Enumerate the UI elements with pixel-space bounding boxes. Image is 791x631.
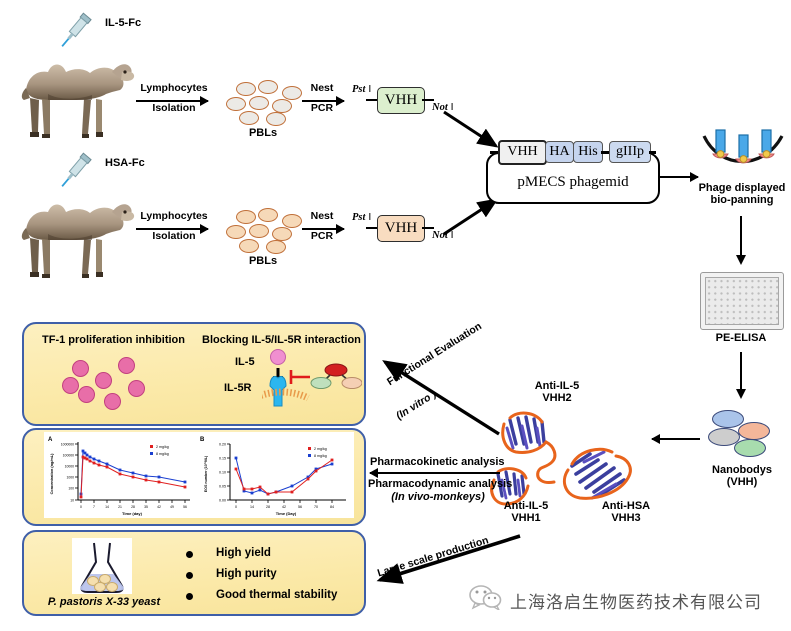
svg-text:28: 28 <box>266 505 270 509</box>
footer-company-name: 上海洛启生物医药技术有限公司 <box>510 588 762 613</box>
phagemid-label: pMECS phagemid <box>488 174 658 191</box>
gene-giiip: gIIIp <box>609 141 651 163</box>
bullet-label-1: High yield <box>216 547 271 559</box>
pbl-label-1: PBLs <box>228 127 298 141</box>
svg-text:Concentration (ng/mL): Concentration (ng/mL) <box>50 453 54 494</box>
bullet-dot-1 <box>186 551 193 558</box>
functional-evaluation-arrow <box>375 352 505 440</box>
nanobody-cluster <box>706 410 778 454</box>
svg-text:42: 42 <box>157 505 161 509</box>
yeast-label: P. pastoris X-33 yeast <box>42 596 166 610</box>
svg-text:1000: 1000 <box>66 475 74 479</box>
blocking-panel-title: Blocking IL-5/IL-5R interaction <box>202 334 361 346</box>
svg-text:100: 100 <box>68 486 74 490</box>
lymphocyte-isolation-label-1b: Isolation <box>132 102 216 114</box>
nest-pcr-label-1: Nest <box>298 82 346 94</box>
lymphocyte-isolation-label-2b: Isolation <box>132 230 216 242</box>
svg-text:10000: 10000 <box>65 464 75 468</box>
bullet-dot-2 <box>186 572 193 579</box>
panning-to-elisa-arrow <box>740 216 742 256</box>
svg-text:1000000: 1000000 <box>61 442 74 446</box>
chart-panel-a: A 1000000 100000 10000 1000 100 10 0 7 1… <box>44 432 196 518</box>
svg-text:0: 0 <box>235 505 237 509</box>
pbl-label-2: PBLs <box>228 255 298 269</box>
lymphocyte-isolation-label-1: Lymphocytes <box>132 82 216 94</box>
pk-pd-arrow <box>370 472 500 474</box>
il5-label: IL-5 <box>235 356 255 370</box>
elisa-label: PE-ELISA <box>700 332 782 346</box>
camel-illustration-1 <box>8 42 138 140</box>
bullet-label-3: Good thermal stability <box>216 589 337 601</box>
svg-text:35: 35 <box>144 505 148 509</box>
gene-ha: HA <box>545 141 574 163</box>
svg-text:0.15: 0.15 <box>219 456 226 460</box>
bullet-dot-3 <box>186 593 193 600</box>
svg-text:56: 56 <box>183 505 187 509</box>
nanobody-label-line2: (VHH) <box>694 476 790 490</box>
biopanning-label-line2: bio-panning <box>690 194 791 208</box>
svg-text:28: 28 <box>131 505 135 509</box>
tf1-panel-title: TF-1 proliferation inhibition <box>42 334 185 346</box>
elisa-to-nanobody-arrow <box>740 352 742 390</box>
svg-text:Time (day): Time (day) <box>122 511 143 516</box>
svg-text:21: 21 <box>118 505 122 509</box>
svg-text:42: 42 <box>282 505 286 509</box>
il5r-label: IL-5R <box>224 382 252 396</box>
svg-text:0: 0 <box>80 505 82 509</box>
antigen-label-2: HSA-Fc <box>105 157 145 171</box>
antigen-label-1: IL-5-Fc <box>105 17 141 31</box>
nest-pcr-label-1b: PCR <box>298 102 346 114</box>
svg-text:14: 14 <box>105 505 109 509</box>
gene-cassette: VHH HA His gIIIp <box>486 140 656 164</box>
svg-text:EOS number (10^9/L): EOS number (10^9/L) <box>204 455 208 492</box>
svg-text:49: 49 <box>170 505 174 509</box>
pk-analysis-label: Pharmacokinetic analysis <box>370 456 505 470</box>
pst-site-label-1: Pst I <box>352 83 371 95</box>
gene-his: His <box>573 141 603 163</box>
svg-text:7: 7 <box>93 505 95 509</box>
gene-vhh: VHH <box>498 140 547 165</box>
svg-text:0.10: 0.10 <box>219 470 226 474</box>
yeast-flask-icon <box>74 540 130 594</box>
svg-text:84: 84 <box>330 505 334 509</box>
svg-text:0.20: 0.20 <box>219 442 226 446</box>
lymphocyte-isolation-label-2: Lymphocytes <box>132 210 216 222</box>
svg-text:Time (Day): Time (Day) <box>276 511 297 516</box>
svg-text:B: B <box>200 437 205 443</box>
svg-text:0.05: 0.05 <box>219 484 226 488</box>
pst-site-label-2: Pst I <box>352 211 371 223</box>
svg-text:8 mg/kg: 8 mg/kg <box>314 454 327 458</box>
nest-pcr-label-2: Nest <box>298 210 346 222</box>
vhh3-label-line2: VHH3 <box>583 512 669 526</box>
pd-analysis-sublabel: (In vivo-monkeys) <box>368 491 508 505</box>
svg-text:8 mg/kg: 8 mg/kg <box>156 452 169 456</box>
nest-pcr-label-2b: PCR <box>298 230 346 242</box>
il5-il5r-blocking-diagram <box>262 348 362 416</box>
phagemid-to-panning-arrow <box>660 176 698 178</box>
svg-text:14: 14 <box>250 505 254 509</box>
camel-illustration-2 <box>8 182 138 280</box>
bullet-label-2: High purity <box>216 568 277 580</box>
elisa-plate-icon <box>700 272 784 330</box>
large-scale-production-arrow <box>368 528 528 590</box>
chart-panel-b: B 0.20 0.15 0.10 0.05 0.00 0 14 28 42 56… <box>196 432 354 518</box>
svg-text:70: 70 <box>314 505 318 509</box>
svg-text:10: 10 <box>70 498 74 502</box>
svg-text:A: A <box>48 437 53 443</box>
vhh-gene-box-2: VHH <box>377 215 425 242</box>
wechat-icon <box>468 584 502 610</box>
svg-text:56: 56 <box>298 505 302 509</box>
vhh-gene-box-1: VHH <box>377 87 425 114</box>
pd-analysis-label: Pharmacodynamic analysis <box>368 478 512 492</box>
svg-text:100000: 100000 <box>63 453 74 457</box>
svg-text:2 mg/kg: 2 mg/kg <box>314 447 327 451</box>
svg-text:2 mg/kg: 2 mg/kg <box>156 445 169 449</box>
vhh1-label-line2: VHH1 <box>485 512 567 526</box>
biopanning-illustration <box>700 128 786 181</box>
svg-text:0.00: 0.00 <box>219 498 226 502</box>
figure-canvas: IL-5-Fc Lymphocytes <box>0 0 791 631</box>
